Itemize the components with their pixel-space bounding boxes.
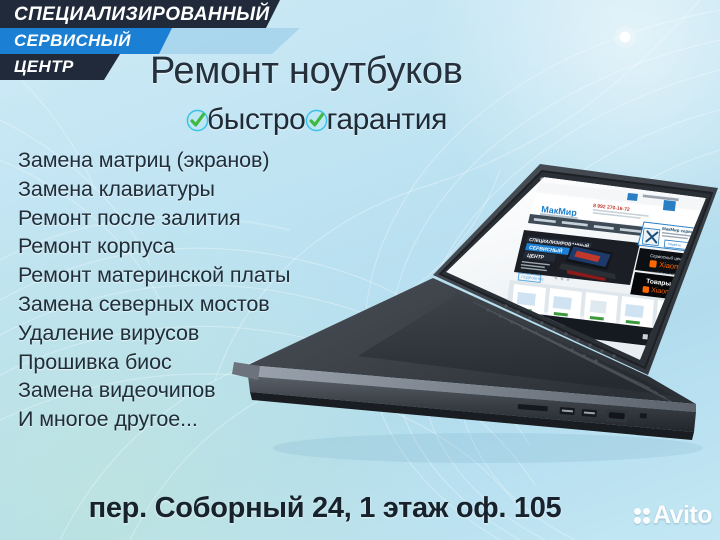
ribbon-band-center: ЦЕНТР xyxy=(0,54,74,80)
ribbon-line-3: ЦЕНТР xyxy=(0,57,74,77)
benefit-warranty-label: гарантия xyxy=(326,103,446,137)
ribbon-line-2: СЕРВИСНЫЙ xyxy=(0,31,131,51)
avito-watermark: Avito xyxy=(634,501,712,530)
benefits-row: быстро гарантия xyxy=(186,103,447,137)
ribbon-band-service: СЕРВИСНЫЙ xyxy=(0,28,131,54)
avito-label: Avito xyxy=(653,501,712,530)
benefit-fast-label: быстро xyxy=(207,103,305,137)
check-circle-icon-2 xyxy=(305,109,328,132)
avito-logo-icon xyxy=(634,508,650,524)
ribbon-line-1: СПЕЦИАЛИЗИРОВАННЫЙ xyxy=(0,3,270,26)
check-circle-icon xyxy=(186,109,209,132)
advertisement-poster: СПЕЦИАЛИЗИРОВАННЫЙ СЕРВИСНЫЙ ЦЕНТР Ремон… xyxy=(0,0,720,540)
ribbon-band-specialized: СПЕЦИАЛИЗИРОВАННЫЙ xyxy=(0,0,270,28)
laptop-illustration: МакМир 8 992 270-16-72 СПЕЦИАЛИЗИРОВАН xyxy=(188,160,720,472)
address-text: пер. Соборный 24, 1 этаж оф. 105 xyxy=(0,492,650,525)
header-ribbon: СПЕЦИАЛИЗИРОВАННЫЙ СЕРВИСНЫЙ ЦЕНТР xyxy=(0,0,300,80)
